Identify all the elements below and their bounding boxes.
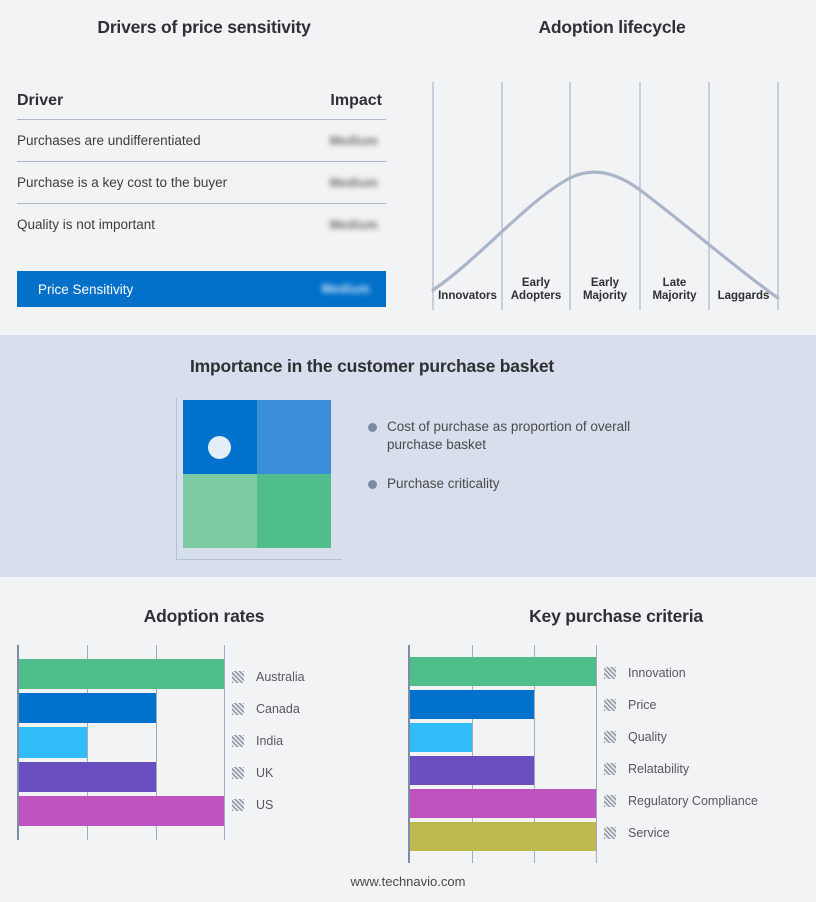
legend-item[interactable]: Relatability — [604, 753, 758, 785]
hatch-swatch-icon — [604, 667, 616, 679]
lifecycle-segment-laggards: Laggards — [709, 290, 778, 303]
segment-line-1: Early — [502, 277, 570, 290]
bar-service — [410, 822, 596, 851]
adoption-rates-chart-title: Adoption rates — [0, 606, 408, 627]
legend-item[interactable]: Innovation — [604, 657, 758, 689]
legend-item[interactable]: UK — [232, 757, 305, 789]
table-row: Purchase is a key cost to the buyer Medi… — [17, 162, 386, 204]
bar-india — [19, 727, 87, 757]
bar-price — [410, 690, 534, 719]
basket-matrix-vertical-axis — [176, 398, 177, 560]
column-header-impact: Impact — [330, 92, 382, 110]
key-purchase-criteria-plot-area — [408, 645, 596, 863]
hatch-swatch-icon — [604, 731, 616, 743]
table-row: Quality is not important Medium — [17, 204, 386, 245]
drivers-table: Driver Impact Purchases are undifferenti… — [17, 92, 386, 245]
adoption-rates-legend: AustraliaCanadaIndiaUKUS — [232, 661, 305, 821]
lifecycle-gridlines — [433, 82, 778, 310]
basket-matrix-horizontal-axis — [176, 559, 342, 560]
legend-item[interactable]: US — [232, 789, 305, 821]
driver-label: Purchase is a key cost to the buyer — [17, 175, 227, 190]
adoption-lifecycle-chart: Innovators Early Adopters Early Majority… — [408, 60, 816, 315]
segment-line-2: Majority — [570, 290, 640, 303]
basket-legend-label: Cost of purchase as proportion of overal… — [387, 418, 642, 454]
price-sensitivity-highlight-row: Price Sensitivity Medium — [17, 271, 386, 307]
hatch-swatch-icon — [604, 827, 616, 839]
legend-item[interactable]: Service — [604, 817, 758, 849]
hatch-swatch-icon — [232, 799, 244, 811]
bar-us — [19, 796, 224, 826]
drivers-table-header: Driver Impact — [17, 92, 386, 120]
driver-label: Quality is not important — [17, 217, 155, 232]
legend-item[interactable]: Canada — [232, 693, 305, 725]
legend-label: Price — [628, 698, 656, 712]
bar-relatability — [410, 756, 534, 785]
list-item: Cost of purchase as proportion of overal… — [368, 418, 658, 454]
lifecycle-segment-early-adopters: Early Adopters — [502, 277, 570, 303]
segment-line-1: Early — [570, 277, 640, 290]
quadrant-top-left — [183, 400, 257, 474]
segment-line-2: Innovators — [433, 290, 502, 303]
position-marker-dot — [208, 436, 231, 459]
legend-item[interactable]: Quality — [604, 721, 758, 753]
price-sensitivity-impact-value: Medium — [322, 282, 370, 296]
legend-label: UK — [256, 766, 273, 780]
hatch-swatch-icon — [232, 703, 244, 715]
column-header-driver: Driver — [17, 92, 63, 110]
table-row: Purchases are undifferentiated Medium — [17, 120, 386, 162]
lifecycle-segment-early-majority: Early Majority — [570, 277, 640, 303]
drivers-panel-title: Drivers of price sensitivity — [0, 17, 408, 38]
quadrant-bottom-left — [183, 474, 257, 548]
lifecycle-segment-innovators: Innovators — [433, 290, 502, 303]
segment-line-2: Laggards — [709, 290, 778, 303]
impact-value: Medium — [330, 134, 378, 148]
driver-label: Purchases are undifferentiated — [17, 133, 201, 148]
hatch-swatch-icon — [604, 763, 616, 775]
legend-item[interactable]: Price — [604, 689, 758, 721]
legend-label: Relatability — [628, 762, 689, 776]
bar-quality — [410, 723, 472, 752]
purchase-basket-quadrant-matrix — [183, 400, 331, 548]
legend-label: Australia — [256, 670, 305, 684]
adoption-rates-plot-area — [17, 645, 224, 840]
hatch-swatch-icon — [604, 699, 616, 711]
key-purchase-criteria-chart — [408, 645, 596, 863]
hatch-swatch-icon — [232, 735, 244, 747]
legend-label: Innovation — [628, 666, 686, 680]
bar-canada — [19, 693, 156, 723]
bar-regulatory-compliance — [410, 789, 596, 818]
bar-uk — [19, 762, 156, 792]
bar-innovation — [410, 657, 596, 686]
quadrant-top-right — [257, 400, 331, 474]
bullet-icon — [368, 423, 377, 432]
key-purchase-criteria-chart-title: Key purchase criteria — [408, 606, 816, 627]
lifecycle-segment-late-majority: Late Majority — [640, 277, 709, 303]
impact-value: Medium — [330, 176, 378, 190]
legend-label: India — [256, 734, 283, 748]
gridline — [224, 645, 225, 840]
footer-url: www.technavio.com — [0, 874, 816, 889]
legend-item[interactable]: India — [232, 725, 305, 757]
legend-item[interactable]: Regulatory Compliance — [604, 785, 758, 817]
segment-line-2: Adopters — [502, 290, 570, 303]
bar-australia — [19, 659, 224, 689]
key-purchase-criteria-legend: InnovationPriceQualityRelatabilityRegula… — [604, 657, 758, 849]
bullet-icon — [368, 480, 377, 489]
gridline — [596, 645, 597, 863]
legend-label: Regulatory Compliance — [628, 794, 758, 808]
impact-value: Medium — [330, 218, 378, 232]
legend-label: Quality — [628, 730, 667, 744]
hatch-swatch-icon — [604, 795, 616, 807]
price-sensitivity-label: Price Sensitivity — [38, 282, 133, 297]
adoption-rates-chart — [17, 645, 224, 840]
legend-label: Service — [628, 826, 670, 840]
basket-panel-title: Importance in the customer purchase bask… — [0, 356, 744, 377]
quadrant-bottom-right — [257, 474, 331, 548]
basket-legend: Cost of purchase as proportion of overal… — [368, 418, 658, 514]
hatch-swatch-icon — [232, 671, 244, 683]
lifecycle-panel-title: Adoption lifecycle — [408, 17, 816, 38]
list-item: Purchase criticality — [368, 475, 658, 493]
segment-line-1: Late — [640, 277, 709, 290]
hatch-swatch-icon — [232, 767, 244, 779]
segment-line-2: Majority — [640, 290, 709, 303]
basket-legend-label: Purchase criticality — [387, 475, 500, 493]
legend-item[interactable]: Australia — [232, 661, 305, 693]
legend-label: US — [256, 798, 273, 812]
legend-label: Canada — [256, 702, 300, 716]
